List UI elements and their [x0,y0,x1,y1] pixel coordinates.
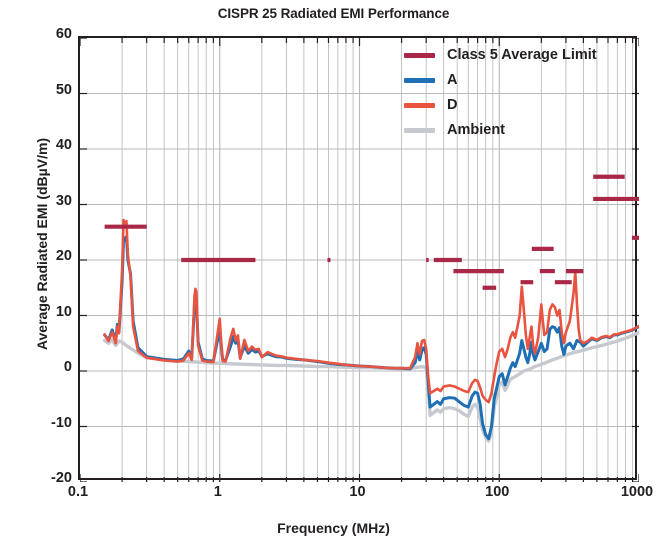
emi-chart-figure: CISPR 25 Radiated EMI Performance Averag… [0,0,667,554]
y-tick-label: 40 [36,137,72,153]
y-tick-label: 0 [36,359,72,375]
chart-legend: Class 5 Average LimitADAmbient [404,44,636,144]
y-tick-label: 50 [36,82,72,98]
x-tick-label: 1000 [621,484,653,500]
x-axis-label: Frequency (MHz) [0,520,667,536]
legend-color-swatch [404,103,435,108]
legend-item-label: Class 5 Average Limit [447,48,597,63]
legend-item[interactable]: A [404,69,636,91]
legend-item-label: D [447,98,457,113]
legend-item-label: Ambient [447,123,505,138]
legend-item-label: A [447,73,457,88]
legend-item[interactable]: Class 5 Average Limit [404,44,636,66]
x-tick-label: 100 [485,484,509,500]
legend-color-swatch [404,128,435,133]
y-tick-label: 10 [36,304,72,320]
series-ambient [105,332,639,441]
legend-item[interactable]: Ambient [404,119,636,141]
series-a [105,237,639,439]
x-tick-label: 10 [349,484,365,500]
x-axis-ticks: 0.11101001000 [0,484,667,510]
legend-color-swatch [404,78,435,83]
legend-color-swatch [404,53,435,58]
legend-item[interactable]: D [404,94,636,116]
series-d [105,220,639,402]
x-tick-label: 0.1 [68,484,88,500]
y-tick-label: 20 [36,248,72,264]
y-axis-ticks: -20-100102030405060 [30,0,72,554]
y-tick-label: 30 [36,193,72,209]
x-tick-label: 1 [214,484,222,500]
limit-segments [105,177,639,288]
y-tick-label: -10 [36,415,72,431]
y-tick-label: 60 [36,26,72,42]
chart-title: CISPR 25 Radiated EMI Performance [0,6,667,21]
